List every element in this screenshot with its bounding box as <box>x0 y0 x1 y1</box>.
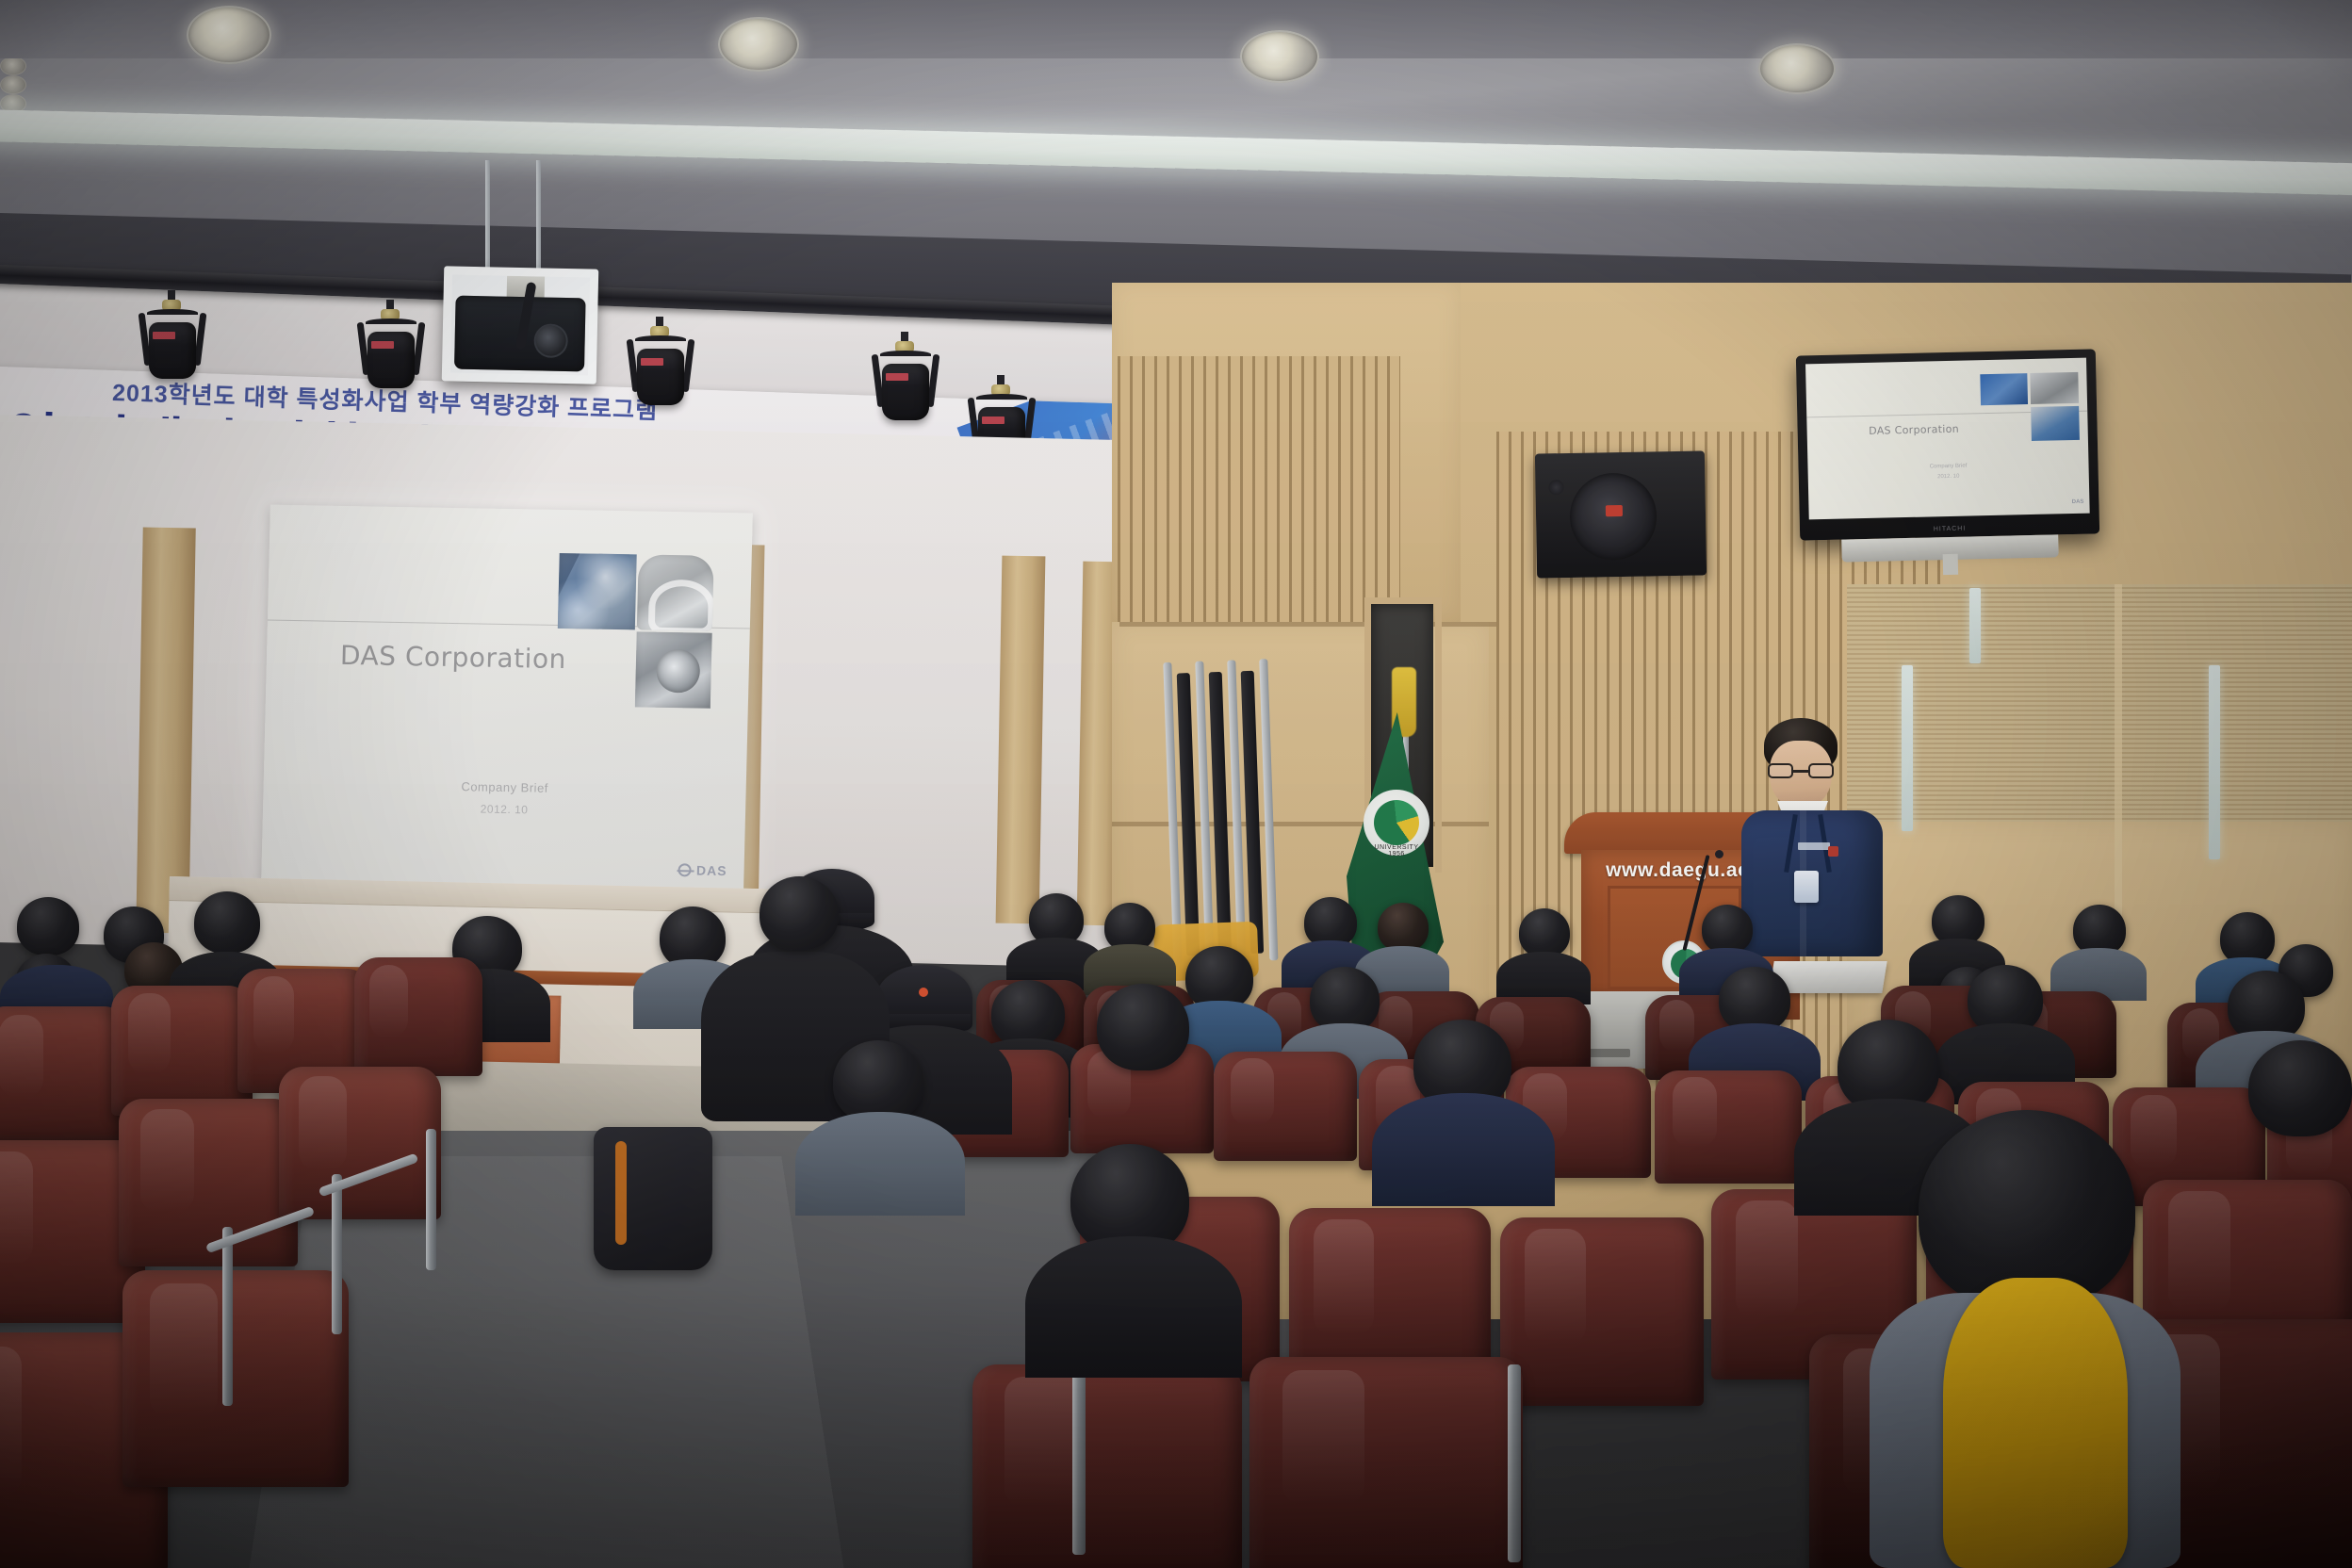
wall-loudspeaker <box>1535 450 1707 578</box>
tv-slide-thumbnail-part <box>2032 406 2080 441</box>
auditorium-seat[interactable] <box>111 986 253 1116</box>
backpack-strap <box>615 1141 627 1244</box>
audience-head <box>1097 984 1189 1070</box>
stage-par-light <box>629 330 692 411</box>
tv-screen: DAS Corporation Company Brief 2012. 10 D… <box>1805 358 2090 520</box>
flag-emblem-icon: UNIVERSITY 1956 <box>1364 790 1429 856</box>
tv-slide-thumbnail-engine <box>1980 373 2028 405</box>
ceiling-downlight-small <box>0 57 26 75</box>
wall-slat-panel <box>1118 356 1400 639</box>
ceiling-downlight-small <box>0 75 26 94</box>
id-badge <box>1794 871 1819 903</box>
ceiling-dark-slab <box>0 0 2352 58</box>
jacket-chest-logo <box>1798 842 1830 850</box>
auditorium-seat[interactable] <box>1249 1357 1523 1568</box>
stage-par-light <box>874 345 937 426</box>
ceiling <box>0 0 2352 283</box>
audience-shoulders <box>1025 1236 1242 1378</box>
tv-slide-subtitle: Company Brief <box>1807 461 2088 473</box>
auditorium-seat[interactable] <box>119 1099 298 1266</box>
auditorium-seat[interactable] <box>0 1006 128 1140</box>
audience-shoulders <box>795 1112 965 1216</box>
auditorium-seat[interactable] <box>122 1270 349 1487</box>
seat-leg <box>1072 1347 1086 1555</box>
slide-date: 2012. 10 <box>263 798 745 820</box>
ceiling-projector <box>442 266 599 384</box>
slide-title: DAS Corporation <box>340 640 567 675</box>
slide-thumbnail-part <box>635 631 712 708</box>
jacket-emblem-patch <box>1828 846 1838 857</box>
slide-thumbnail-engine <box>558 553 637 629</box>
glasses-icon <box>1768 763 1834 778</box>
stage-par-light <box>141 303 204 384</box>
ceiling-downlight <box>1758 43 1836 94</box>
das-logo-icon <box>678 863 692 876</box>
ceiling-downlight <box>1240 30 1319 83</box>
tv-slide-title: DAS Corporation <box>1869 423 1959 437</box>
tv-slide-logo: DAS <box>2072 499 2084 505</box>
wall-mounted-tv[interactable]: DAS Corporation Company Brief 2012. 10 D… <box>1796 349 2099 540</box>
seat-leg <box>1508 1364 1521 1562</box>
seat-leg <box>426 1129 436 1270</box>
auditorium-seat[interactable] <box>972 1364 1242 1568</box>
audience-baseball-cap <box>876 965 972 1031</box>
auditorium-seat[interactable] <box>1655 1070 1802 1184</box>
tv-slide-date: 2012. 10 <box>1808 471 2089 483</box>
audience-head <box>17 897 79 955</box>
wall-light-strip <box>1969 588 1981 663</box>
ceiling-downlight <box>187 6 271 64</box>
stage-par-light <box>360 313 422 394</box>
microphone-head-icon <box>1715 850 1723 858</box>
slide-logo: DAS <box>678 862 727 878</box>
projector-suspension-rods <box>476 160 580 273</box>
tv-brand-label: HITACHI <box>1934 526 1967 533</box>
audience-head <box>1702 905 1753 954</box>
tv-slide-thumbnail-seat <box>2031 372 2079 404</box>
student-hoodie-yellow <box>1943 1278 2128 1568</box>
auditorium-seat[interactable] <box>1214 1052 1357 1161</box>
auditorium-seat[interactable] <box>1500 1217 1704 1406</box>
slide-logo-text: DAS <box>696 863 727 879</box>
presenter-person <box>1736 718 1886 954</box>
wood-pilaster <box>136 528 195 934</box>
flag-emblem-text: UNIVERSITY 1956 <box>1369 844 1424 857</box>
audience-head <box>1519 908 1570 957</box>
wall-light-strip <box>1902 665 1913 831</box>
audience-head <box>2248 1040 2352 1136</box>
auditorium-seat[interactable] <box>279 1067 441 1219</box>
wall-light-strip <box>2209 665 2220 859</box>
wood-pilaster <box>996 556 1046 924</box>
audience-head <box>194 891 260 954</box>
audience-shoulders <box>1372 1093 1555 1206</box>
slide-thumbnail-seat <box>637 554 714 630</box>
seat-leg <box>222 1227 233 1406</box>
audience-head <box>1378 903 1429 952</box>
projection-screen: DAS Corporation Company Brief 2012. 10 D… <box>261 505 753 890</box>
audience-head <box>833 1040 923 1123</box>
auditorium-photo: 2013학년도 대학 특성화사업 학부 역량강화 프로그램 취업 경쟁력 강화 … <box>0 0 2352 1568</box>
student-backpack <box>594 1127 712 1270</box>
ceiling-downlight <box>718 17 799 72</box>
audience-head <box>759 876 839 950</box>
cap-logo-icon <box>919 988 928 997</box>
auditorium-seat[interactable] <box>354 957 482 1076</box>
tv-mount-stem <box>1943 554 1958 575</box>
slide-subtitle: Company Brief <box>264 776 746 799</box>
seat-leg <box>332 1174 342 1334</box>
